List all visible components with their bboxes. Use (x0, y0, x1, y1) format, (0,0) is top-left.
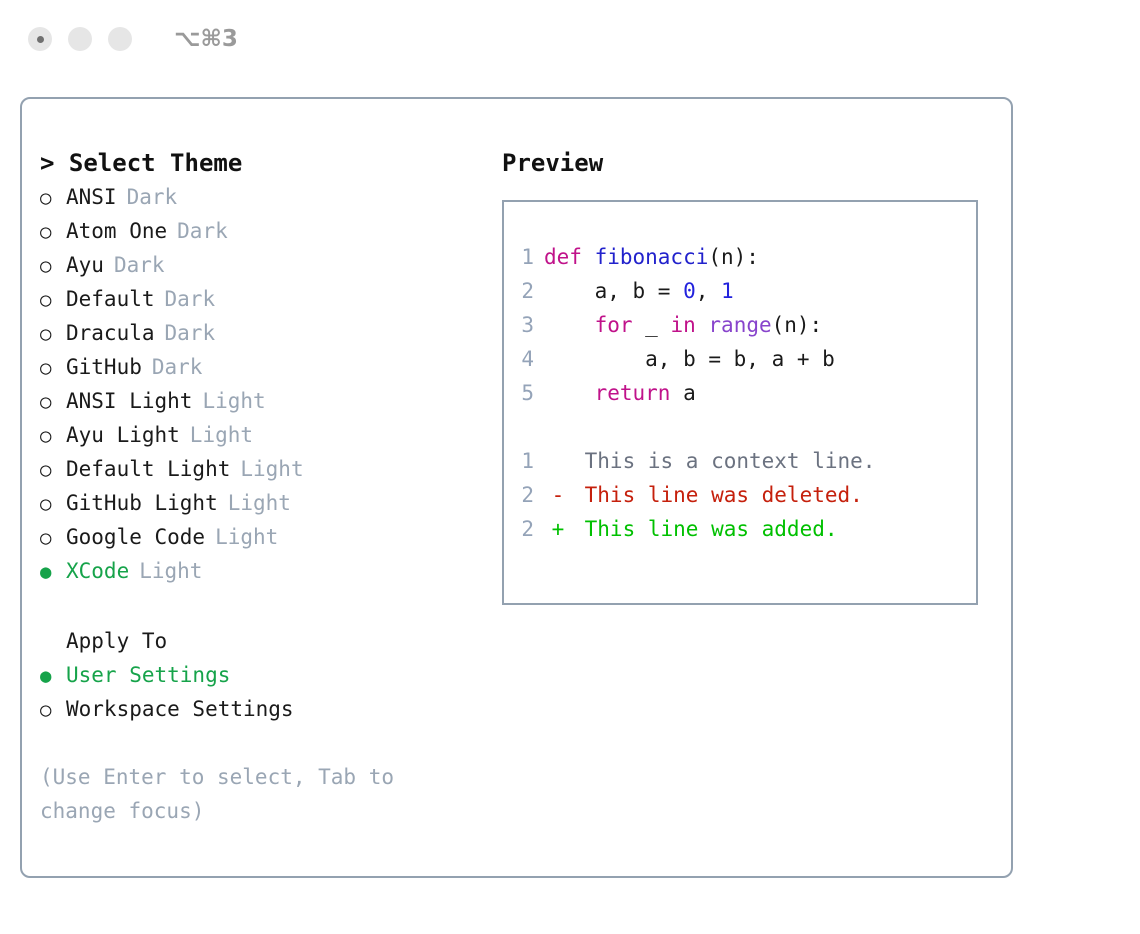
theme-name-label: GitHub (66, 350, 142, 384)
diff-line-text: This line was added. (572, 512, 838, 546)
apply-to-option[interactable]: ○Workspace Settings (40, 692, 490, 726)
diff-marker: - (544, 478, 572, 512)
theme-name-label: Default Light (66, 452, 230, 486)
radio-unselected-icon[interactable]: ○ (40, 521, 66, 555)
diff-line: 2- This line was deleted. (504, 478, 976, 512)
code-token: , (696, 279, 721, 303)
theme-name-label: ANSI Light (66, 384, 192, 418)
code-token: (n): (772, 313, 823, 337)
code-token: def (544, 245, 595, 269)
code-line-number: 1 (504, 240, 544, 274)
apply-to-options: ●User Settings○Workspace Settings (40, 658, 490, 726)
theme-kind-badge: Light (190, 418, 253, 452)
theme-kind-badge: Dark (165, 316, 216, 350)
preview-heading: Preview (502, 146, 1002, 180)
theme-list-item[interactable]: ○DefaultDark (40, 282, 490, 316)
code-line: 5 return a (504, 376, 976, 410)
theme-list-item[interactable]: ○Google CodeLight (40, 520, 490, 554)
code-token: return (595, 381, 671, 405)
theme-kind-badge: Dark (177, 214, 228, 248)
code-line: 4 a, b = b, a + b (504, 342, 976, 376)
theme-kind-badge: Light (202, 384, 265, 418)
code-line: 3 for _ in range(n): (504, 308, 976, 342)
theme-name-label: GitHub Light (66, 486, 218, 520)
theme-list-item[interactable]: ●XCodeLight (40, 554, 490, 588)
window-dot-third-icon[interactable] (108, 27, 132, 51)
code-token: a (670, 381, 695, 405)
radio-unselected-icon[interactable]: ○ (40, 317, 66, 351)
diff-marker (544, 444, 572, 478)
preview-box: 1def fibonacci(n):2 a, b = 0, 13 for _ i… (502, 200, 978, 605)
radio-selected-icon[interactable]: ● (40, 555, 66, 589)
apply-to-heading: Apply To (40, 624, 490, 658)
radio-unselected-icon[interactable]: ○ (40, 215, 66, 249)
diff-line-text: This line was deleted. (572, 478, 863, 512)
keyboard-hint-text: (Use Enter to select, Tab to change focu… (40, 760, 450, 828)
code-line-number: 5 (504, 376, 544, 410)
theme-selection-panel: > Select Theme ○ANSIDark○Atom OneDark○Ay… (40, 146, 490, 828)
theme-name-label: Google Code (66, 520, 205, 554)
code-line-number: 2 (504, 274, 544, 308)
theme-name-label: ANSI (66, 180, 117, 214)
theme-list-item[interactable]: ○GitHub LightLight (40, 486, 490, 520)
preview-spacer (504, 410, 976, 444)
code-token: 0 (683, 279, 696, 303)
window-controls (28, 27, 132, 51)
theme-kind-badge: Dark (127, 180, 178, 214)
radio-selected-icon[interactable]: ● (40, 659, 66, 693)
diff-line-number: 1 (504, 444, 544, 478)
code-line: 2 a, b = 0, 1 (504, 274, 976, 308)
code-token (544, 381, 595, 405)
code-preview: 1def fibonacci(n):2 a, b = 0, 13 for _ i… (504, 240, 976, 410)
radio-unselected-icon[interactable]: ○ (40, 351, 66, 385)
radio-unselected-icon[interactable]: ○ (40, 249, 66, 283)
theme-list-item[interactable]: ○Ayu LightLight (40, 418, 490, 452)
diff-line-text: This is a context line. (572, 444, 875, 478)
theme-list-item[interactable]: ○ANSIDark (40, 180, 490, 214)
theme-kind-badge: Dark (114, 248, 165, 282)
code-line-text: a, b = 0, 1 (544, 274, 734, 308)
diff-marker: + (544, 512, 572, 546)
code-token (696, 313, 709, 337)
theme-kind-badge: Dark (165, 282, 216, 316)
apply-to-option-label: User Settings (66, 658, 230, 692)
window-dot-active-icon[interactable] (28, 27, 52, 51)
diff-line: 2+ This line was added. (504, 512, 976, 546)
keyboard-shortcut-label: ⌥⌘3 (174, 26, 238, 52)
apply-to-section: Apply To ●User Settings○Workspace Settin… (40, 624, 490, 726)
window-titlebar: ⌥⌘3 (0, 0, 1140, 78)
theme-list: ○ANSIDark○Atom OneDark○AyuDark○DefaultDa… (40, 180, 490, 588)
diff-line: 1 This is a context line. (504, 444, 976, 478)
radio-unselected-icon[interactable]: ○ (40, 693, 66, 727)
radio-unselected-icon[interactable]: ○ (40, 283, 66, 317)
theme-kind-badge: Light (215, 520, 278, 554)
code-token: 1 (721, 279, 734, 303)
code-token: a, b = b, a + b (544, 347, 835, 371)
preview-panel: Preview 1def fibonacci(n):2 a, b = 0, 13… (502, 146, 1002, 605)
theme-name-label: Dracula (66, 316, 155, 350)
code-line-text: def fibonacci(n): (544, 240, 759, 274)
theme-kind-badge: Light (139, 554, 202, 588)
window-dot-inner (37, 36, 44, 43)
theme-list-item[interactable]: ○GitHubDark (40, 350, 490, 384)
code-line-text: return a (544, 376, 696, 410)
diff-preview: 1 This is a context line.2- This line wa… (504, 444, 976, 546)
code-line-number: 3 (504, 308, 544, 342)
window-dot-second-icon[interactable] (68, 27, 92, 51)
code-line-text: a, b = b, a + b (544, 342, 835, 376)
code-line-text: for _ in range(n): (544, 308, 822, 342)
theme-name-label: XCode (66, 554, 129, 588)
diff-line-number: 2 (504, 512, 544, 546)
theme-kind-badge: Light (240, 452, 303, 486)
code-token: in (670, 313, 695, 337)
code-line: 1def fibonacci(n): (504, 240, 976, 274)
apply-to-option-label: Workspace Settings (66, 692, 294, 726)
code-token: a, b = (544, 279, 683, 303)
code-token: (n): (708, 245, 759, 269)
theme-name-label: Default (66, 282, 155, 316)
theme-kind-badge: Light (228, 486, 291, 520)
radio-unselected-icon[interactable]: ○ (40, 487, 66, 521)
code-token: for (595, 313, 633, 337)
apply-to-option[interactable]: ●User Settings (40, 658, 490, 692)
theme-list-item[interactable]: ○Default LightLight (40, 452, 490, 486)
radio-unselected-icon[interactable]: ○ (40, 181, 66, 215)
theme-list-item[interactable]: ○AyuDark (40, 248, 490, 282)
code-token (544, 313, 595, 337)
theme-name-label: Atom One (66, 214, 167, 248)
radio-unselected-icon[interactable]: ○ (40, 419, 66, 453)
code-line-number: 4 (504, 342, 544, 376)
theme-list-item[interactable]: ○ANSI LightLight (40, 384, 490, 418)
theme-list-item[interactable]: ○DraculaDark (40, 316, 490, 350)
theme-name-label: Ayu Light (66, 418, 180, 452)
diff-line-number: 2 (504, 478, 544, 512)
select-theme-heading: > Select Theme (40, 146, 490, 180)
code-token: _ (633, 313, 671, 337)
radio-unselected-icon[interactable]: ○ (40, 453, 66, 487)
radio-unselected-icon[interactable]: ○ (40, 385, 66, 419)
theme-kind-badge: Dark (152, 350, 203, 384)
theme-name-label: Ayu (66, 248, 104, 282)
theme-picker-card: > Select Theme ○ANSIDark○Atom OneDark○Ay… (20, 97, 1013, 878)
code-token: fibonacci (595, 245, 709, 269)
code-token: range (708, 313, 771, 337)
theme-list-item[interactable]: ○Atom OneDark (40, 214, 490, 248)
